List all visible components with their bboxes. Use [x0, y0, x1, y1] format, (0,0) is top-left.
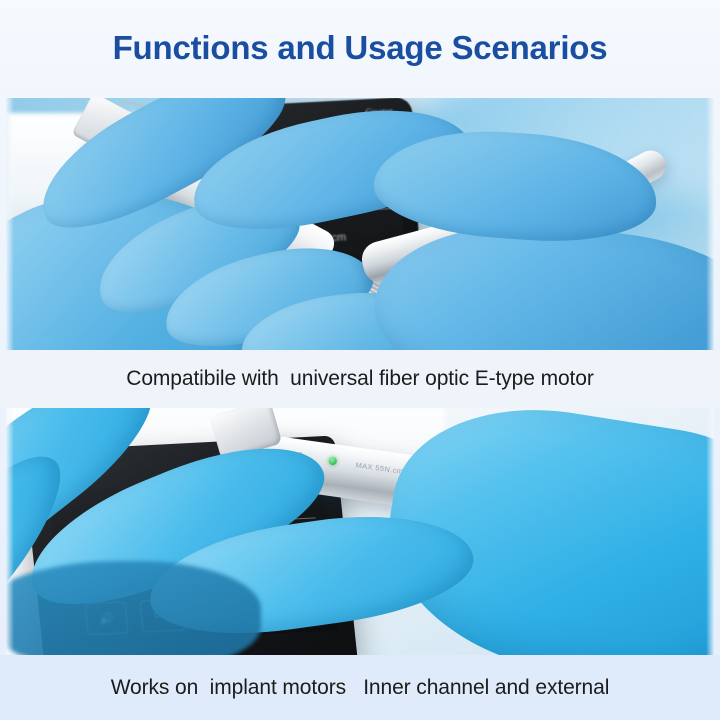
photo-1-scene: Cmotor 5 Ncm — [6, 98, 714, 350]
caption-band-2: Works on implant motors Inner channel an… — [0, 655, 720, 720]
feature-caption-2: Works on implant motors Inner channel an… — [111, 676, 610, 700]
page-title-band: Functions and Usage Scenarios — [0, 0, 720, 96]
glove-shadow — [6, 561, 261, 655]
feature-photo-1: Cmotor 5 Ncm — [6, 98, 714, 350]
caption-band-1: Compatibile with universal fiber optic E… — [0, 350, 720, 408]
feature-photo-2: 25 500 rpm ↷ ☀ 🔊 CAL II 20:1 COXO 20:1 — [6, 408, 714, 655]
photo-2-scene: 25 500 rpm ↷ ☀ 🔊 CAL II 20:1 COXO 20:1 — [6, 408, 714, 655]
product-feature-page: Functions and Usage Scenarios Cmotor — [0, 0, 720, 720]
feature-caption-1: Compatibile with universal fiber optic E… — [126, 367, 594, 391]
page-title: Functions and Usage Scenarios — [113, 29, 608, 67]
